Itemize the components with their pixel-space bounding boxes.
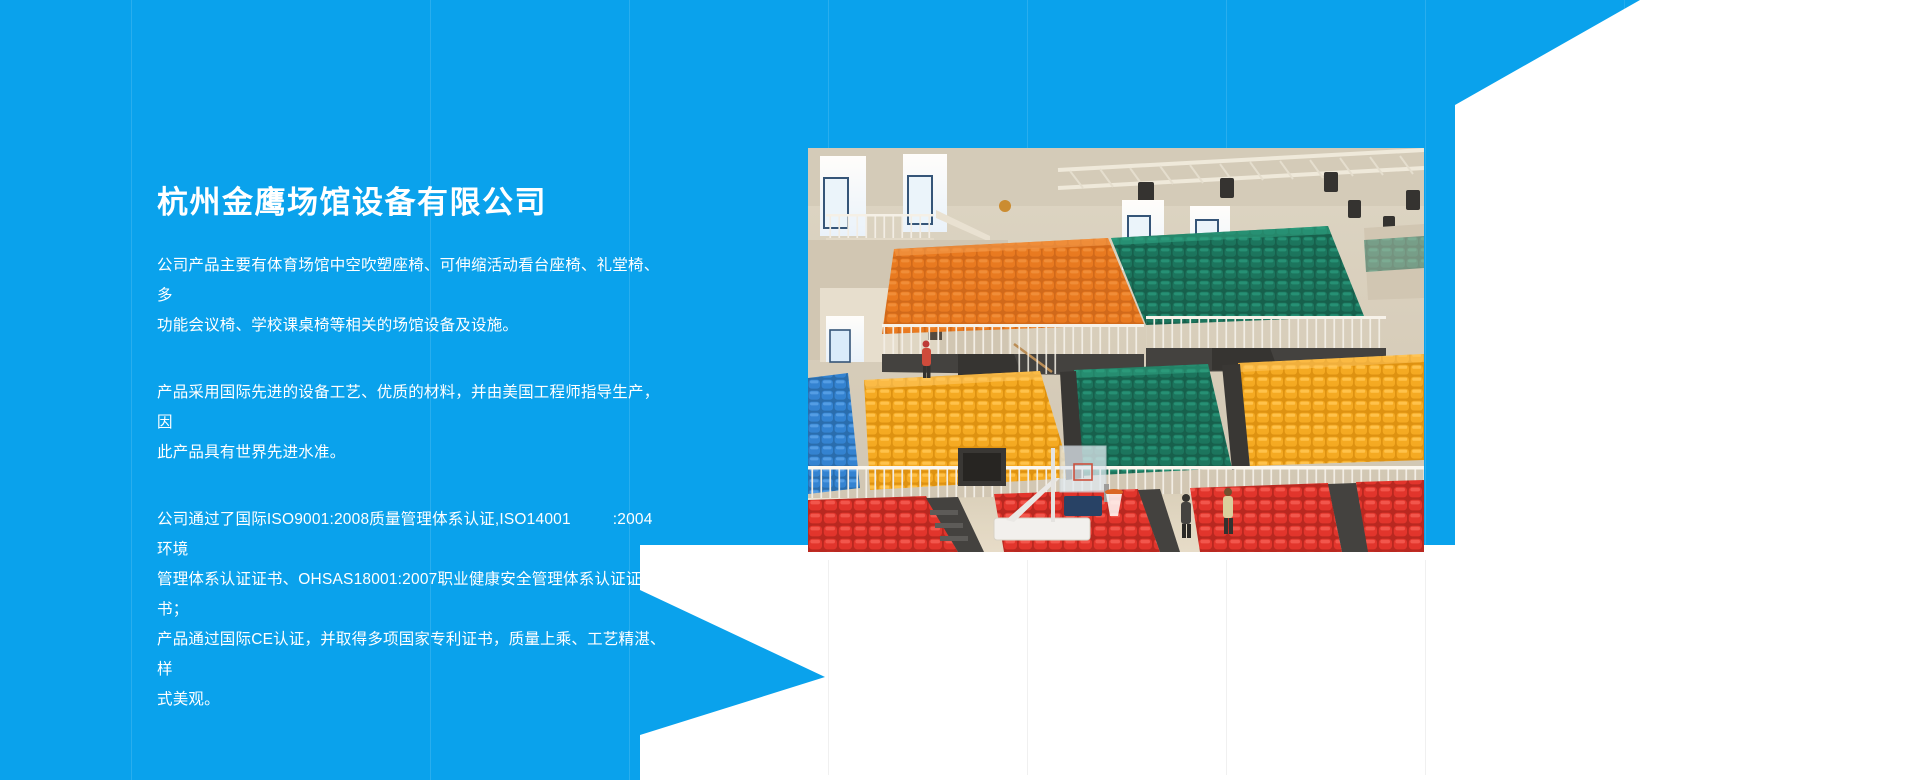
paragraph-line-certifications-first: 公司通过了国际ISO9001:2008质量管理体系认证,ISO14001:200…	[157, 505, 667, 565]
paragraph-line: 产品通过国际CE认证，并取得多项国家专利证书，质量上乘、工艺精湛、样	[157, 625, 667, 685]
hero-banner: 杭州金鹰场馆设备有限公司 公司产品主要有体育场馆中空吹塑座椅、可伸缩活动看台座椅…	[0, 0, 1920, 780]
paragraph-line: 公司产品主要有体育场馆中空吹塑座椅、可伸缩活动看台座椅、礼堂椅、多	[157, 251, 667, 311]
page-title: 杭州金鹰场馆设备有限公司	[157, 183, 667, 223]
banner-text-column: 杭州金鹰场馆设备有限公司 公司产品主要有体育场馆中空吹塑座椅、可伸缩活动看台座椅…	[157, 183, 667, 715]
certification-line-main: 公司通过了国际ISO9001:2008质量管理体系认证,ISO14001	[157, 511, 571, 528]
white-arrow-wedge	[640, 545, 1460, 780]
paragraph-technology: 产品采用国际先进的设备工艺、优质的材料，并由美国工程师指导生产，因 此产品具有世…	[157, 378, 667, 468]
paragraph-line: 管理体系认证证书、OHSAS18001:2007职业健康安全管理体系认证证书；	[157, 565, 667, 625]
paragraph-line: 此产品具有世界先进水准。	[157, 438, 667, 468]
paragraph-certifications: 公司通过了国际ISO9001:2008质量管理体系认证,ISO14001:200…	[157, 505, 667, 715]
paragraph-line: 产品采用国际先进的设备工艺、优质的材料，并由美国工程师指导生产，因	[157, 378, 667, 438]
paragraph-line: 式美观。	[157, 685, 667, 715]
gymnasium-photo	[808, 148, 1424, 552]
paragraph-products: 公司产品主要有体育场馆中空吹塑座椅、可伸缩活动看台座椅、礼堂椅、多 功能会议椅、…	[157, 251, 667, 341]
paragraph-line: 功能会议椅、学校课桌椅等相关的场馆设备及设施。	[157, 311, 667, 341]
